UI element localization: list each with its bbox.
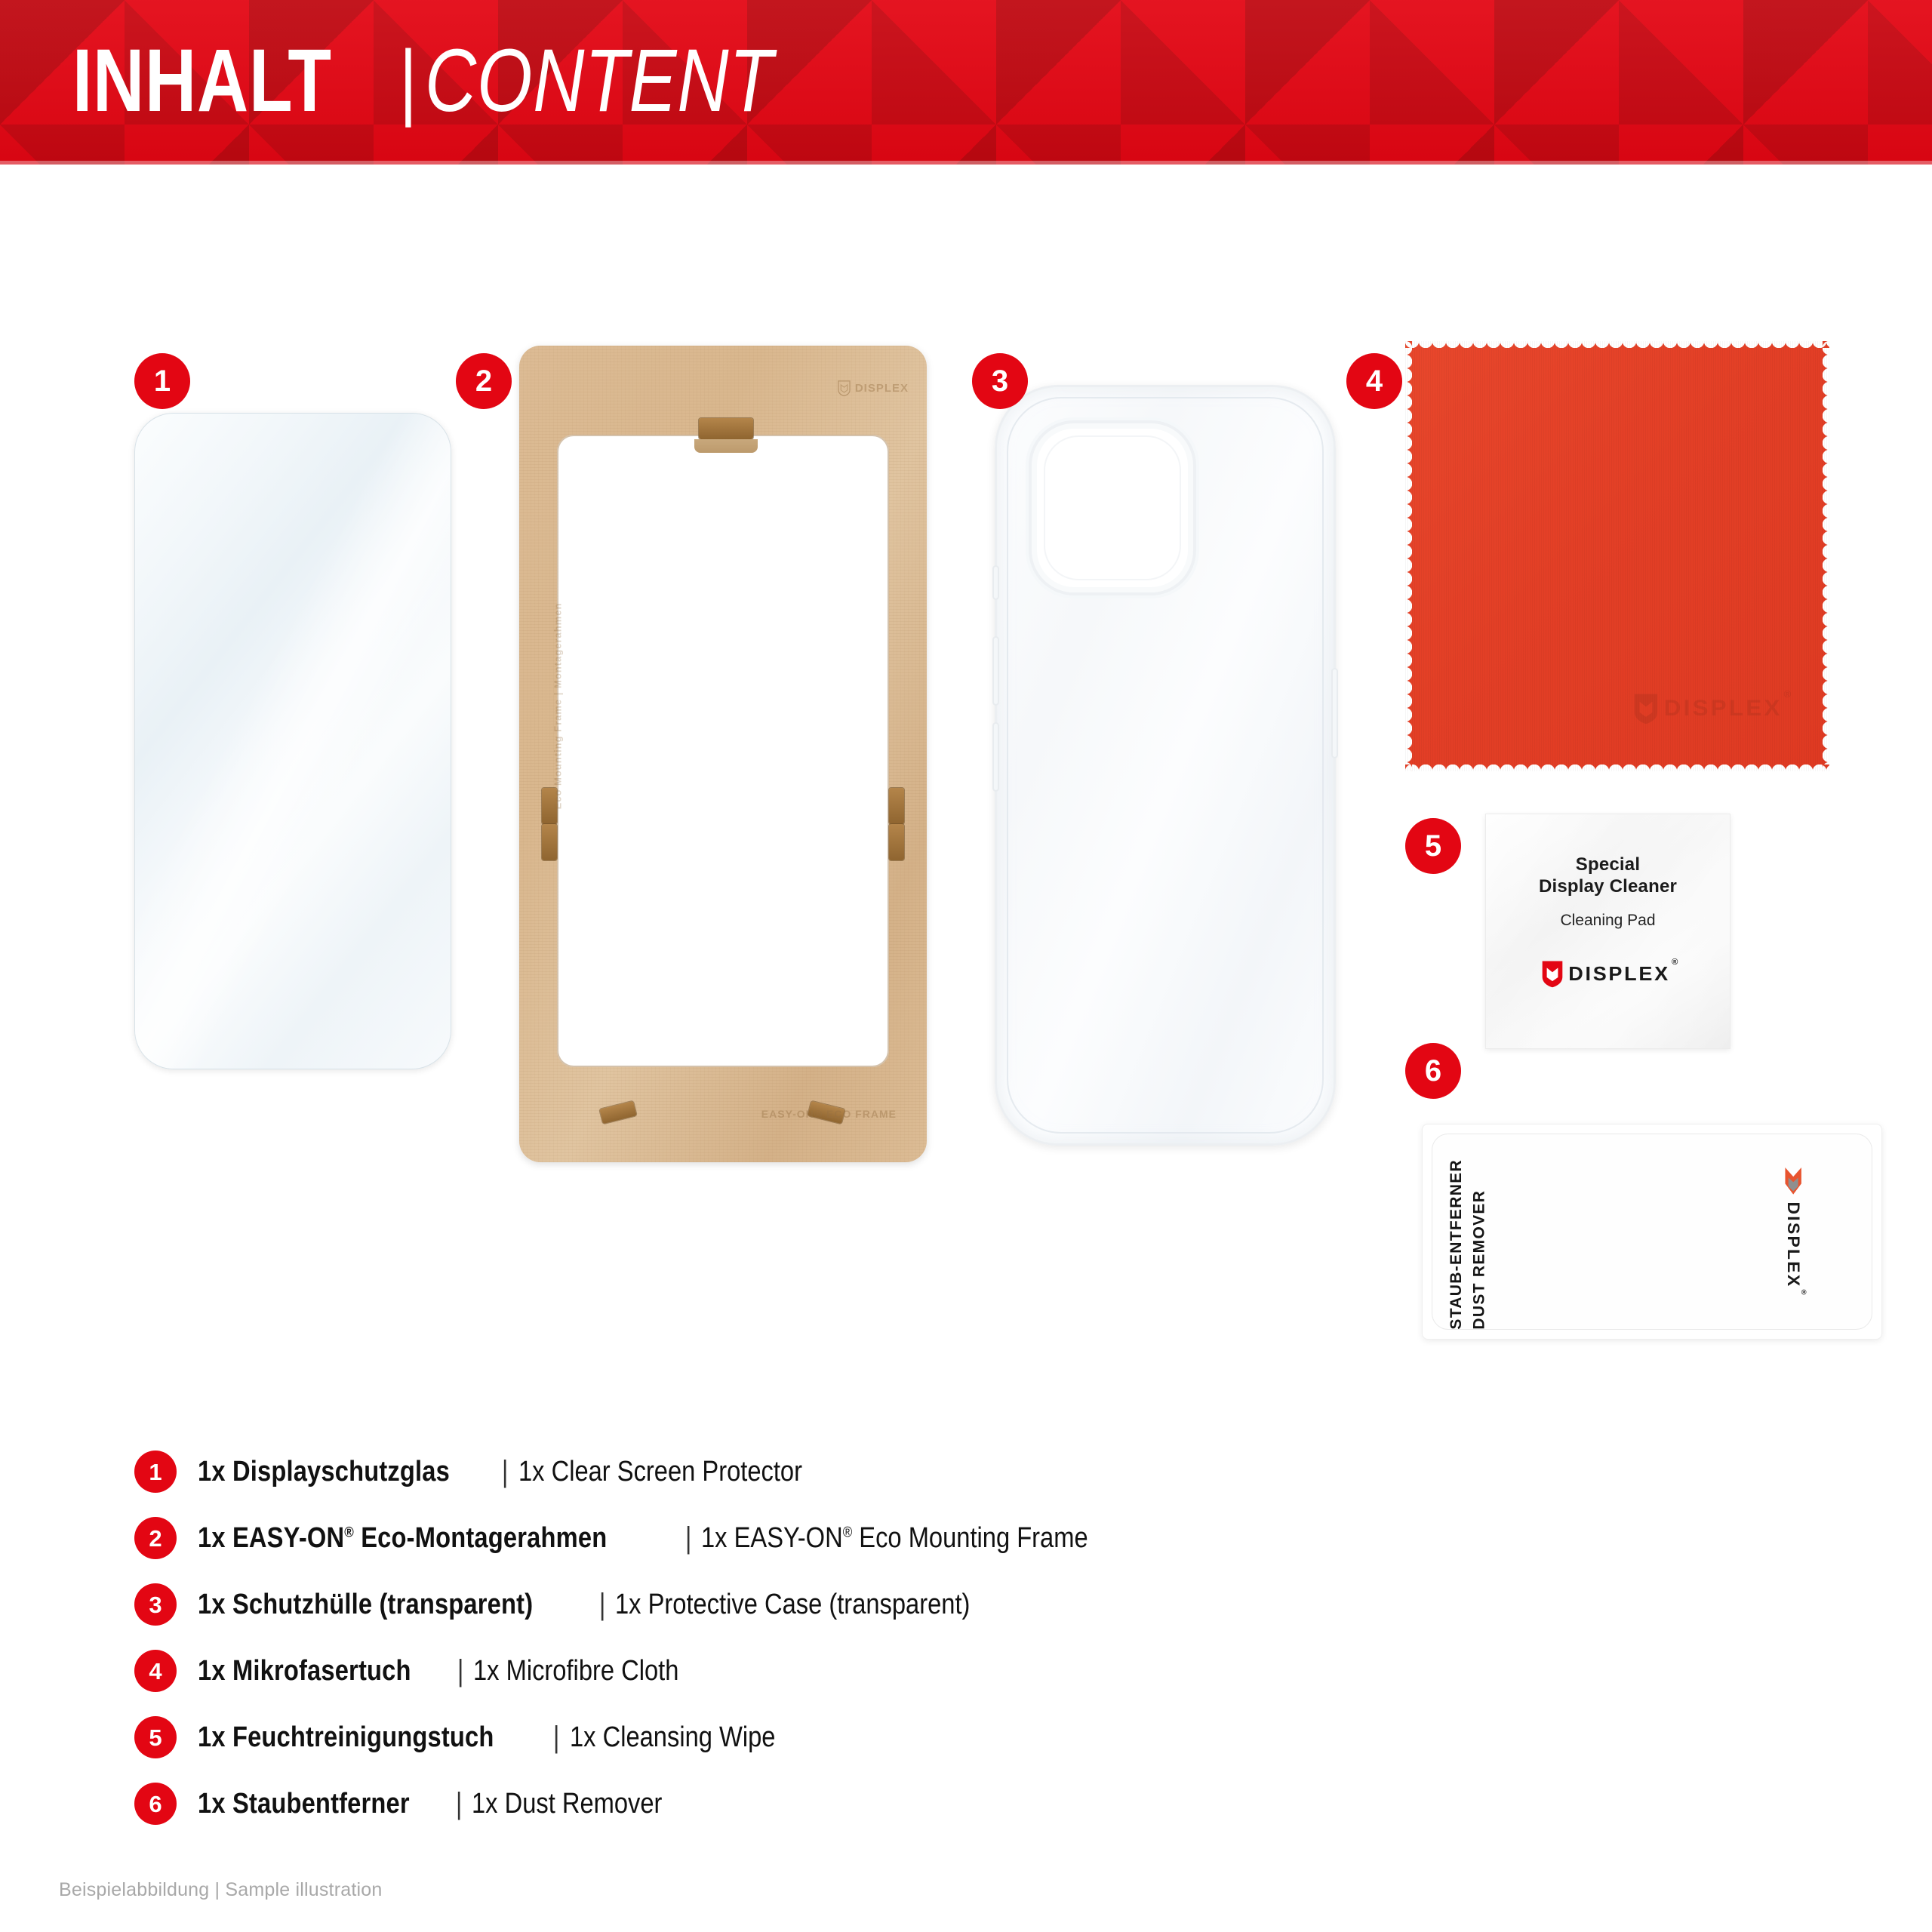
header-bottom-rule bbox=[0, 161, 1932, 165]
legend-item-1: 1 1x Displayschutzglas | 1x Clear Screen… bbox=[134, 1438, 1719, 1505]
legend-label-en-4: 1x Microfibre Cloth bbox=[473, 1655, 678, 1687]
frame-tab-right-upper bbox=[889, 788, 904, 824]
pad-title: Special Display Cleaner bbox=[1539, 854, 1677, 898]
diagram-badge-5: 5 bbox=[1405, 818, 1461, 874]
dust-remover-sticker: STAUB-ENTFERNER DUST REMOVER DISPLEX® bbox=[1422, 1124, 1882, 1340]
page-header: INHALT | CONTENT bbox=[0, 0, 1932, 165]
cloth-displex-logo: DISPLEX® bbox=[1633, 693, 1787, 724]
legend-item-6: 6 1x Staubentferner | 1x Dust Remover bbox=[134, 1770, 1719, 1837]
pad-wordmark: DISPLEX® bbox=[1569, 964, 1677, 983]
screen-protector-glass bbox=[134, 413, 451, 1069]
diagram-badge-1: 1 bbox=[134, 353, 190, 409]
legend-item-5: 5 1x Feuchtreinigungstuch | 1x Cleansing… bbox=[134, 1704, 1719, 1770]
frame-tab-right-lower bbox=[889, 824, 904, 860]
dust-remover-displex-logo: DISPLEX® bbox=[1730, 1144, 1856, 1313]
case-camera-cutout bbox=[1029, 420, 1196, 595]
legend-badge-3: 3 bbox=[134, 1583, 177, 1626]
diagram-badge-4: 4 bbox=[1346, 353, 1402, 409]
legend-label-en-1: 1x Clear Screen Protector bbox=[518, 1456, 802, 1488]
cleaning-pad-sachet: Special Display Cleaner Cleaning Pad DIS… bbox=[1485, 814, 1730, 1049]
legend-label-en-2: 1x EASY-ON® Eco Mounting Frame bbox=[701, 1522, 1088, 1555]
frame-tab-left-lower bbox=[542, 824, 557, 860]
frame-embossed-logo: DISPLEX bbox=[838, 380, 909, 396]
frame-emboss-bottom-text: EASY-ON® ECO FRAME bbox=[761, 1108, 897, 1120]
displex-shield-icon bbox=[1633, 693, 1659, 724]
legend-label-de-1: 1x Displayschutzglas bbox=[198, 1456, 450, 1488]
protective-case bbox=[995, 385, 1336, 1146]
legend-badge-4: 4 bbox=[134, 1650, 177, 1692]
legend-item-3: 3 1x Schutzhülle (transparent) | 1x Prot… bbox=[134, 1571, 1719, 1638]
legend-separator-1: | bbox=[502, 1455, 508, 1489]
dust-remover-label-de: STAUB-ENTFERNER bbox=[1447, 1159, 1465, 1330]
legend-separator-6: | bbox=[456, 1787, 462, 1821]
legend-label-en-5: 1x Cleansing Wipe bbox=[570, 1721, 775, 1754]
frame-emboss-brand: DISPLEX bbox=[855, 382, 909, 395]
cloth-wordmark: DISPLEX® bbox=[1664, 697, 1789, 720]
displex-shield-icon bbox=[1541, 960, 1564, 988]
displex-arrow-icon bbox=[1780, 1166, 1806, 1196]
diagram-badge-2: 2 bbox=[456, 353, 512, 409]
case-volume-up-cutout bbox=[992, 636, 999, 706]
legend-label-de-6: 1x Staubentferner bbox=[198, 1788, 410, 1820]
frame-emboss-side-text: Eco Mounting Frame | Montagerahmen bbox=[552, 603, 563, 810]
legend-item-4: 4 1x Mikrofasertuch | 1x Microfibre Clot… bbox=[134, 1638, 1719, 1704]
frame-notch-top bbox=[694, 439, 758, 453]
case-camera-cutout-inner bbox=[1044, 435, 1181, 580]
legend-separator-5: | bbox=[553, 1721, 559, 1755]
displex-shield-icon bbox=[838, 380, 851, 396]
dust-remover-logo-rotated: DISPLEX® bbox=[1780, 1166, 1806, 1291]
dust-remover-label-en: DUST REMOVER bbox=[1470, 1190, 1487, 1330]
legend-item-2: 2 1x EASY-ON® Eco-Montagerahmen | 1x EAS… bbox=[134, 1505, 1719, 1571]
legend-label-de-4: 1x Mikrofasertuch bbox=[198, 1655, 411, 1687]
legend-badge-6: 6 bbox=[134, 1783, 177, 1825]
diagram-badge-6: 6 bbox=[1405, 1043, 1461, 1099]
case-power-button-cutout bbox=[1331, 668, 1338, 758]
pad-subtitle: Cleaning Pad bbox=[1560, 912, 1655, 930]
page-title-separator: | bbox=[397, 38, 420, 123]
legend-label-de-3: 1x Schutzhülle (transparent) bbox=[198, 1589, 533, 1621]
frame-tab-top bbox=[699, 418, 753, 439]
legend-separator-3: | bbox=[599, 1588, 605, 1622]
case-volume-down-cutout bbox=[992, 722, 999, 792]
legend-badge-5: 5 bbox=[134, 1716, 177, 1758]
legend-badge-2: 2 bbox=[134, 1517, 177, 1559]
sample-illustration-note: Beispielabbildung | Sample illustration bbox=[59, 1879, 382, 1901]
legend-label-de-2: 1x EASY-ON® Eco-Montagerahmen bbox=[198, 1522, 607, 1555]
frame-window-cutout bbox=[557, 435, 889, 1067]
pad-title-line2: Display Cleaner bbox=[1539, 876, 1677, 897]
glass-gloss-highlight bbox=[135, 414, 451, 1069]
legend-label-en-6: 1x Dust Remover bbox=[472, 1788, 662, 1820]
dust-remover-label: STAUB-ENTFERNER DUST REMOVER bbox=[1445, 1159, 1491, 1330]
case-mute-switch-cutout bbox=[992, 565, 999, 600]
legend-separator-4: | bbox=[457, 1654, 463, 1688]
page-title-de: INHALT bbox=[72, 36, 332, 125]
page-title-en: CONTENT bbox=[425, 36, 774, 125]
legend-badge-1: 1 bbox=[134, 1451, 177, 1493]
legend-separator-2: | bbox=[685, 1521, 691, 1555]
eco-mounting-frame: DISPLEX EASY-ON® ECO FRAME Eco Mounting … bbox=[519, 346, 927, 1162]
pad-foil-sheen bbox=[1486, 814, 1730, 1048]
pad-displex-logo: DISPLEX® bbox=[1541, 960, 1675, 988]
content-legend-list: 1 1x Displayschutzglas | 1x Clear Screen… bbox=[134, 1438, 1719, 1837]
legend-label-de-5: 1x Feuchtreinigungstuch bbox=[198, 1721, 494, 1754]
pad-title-line1: Special bbox=[1576, 854, 1640, 875]
legend-label-en-3: 1x Protective Case (transparent) bbox=[615, 1589, 970, 1621]
diagram-badge-3: 3 bbox=[972, 353, 1028, 409]
page-title: INHALT | CONTENT bbox=[72, 17, 860, 145]
dust-remover-wordmark: DISPLEX® bbox=[1785, 1201, 1801, 1293]
microfibre-cloth: DISPLEX® bbox=[1405, 341, 1829, 771]
